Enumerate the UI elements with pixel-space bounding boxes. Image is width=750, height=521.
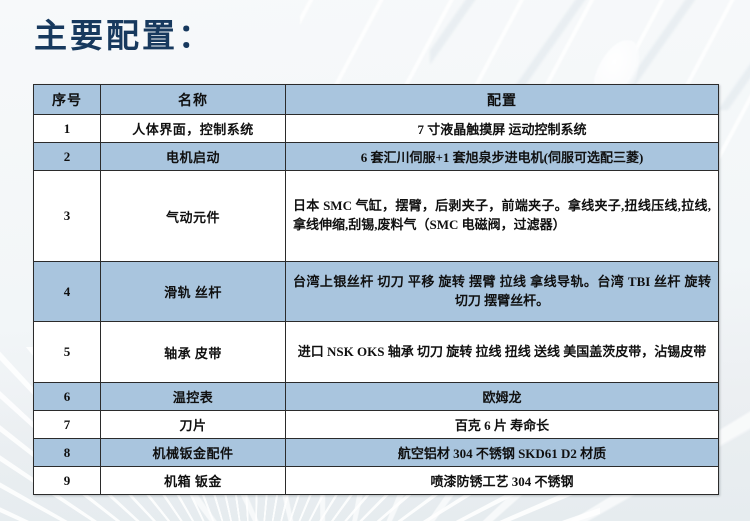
cell-index: 4 (34, 262, 101, 322)
cell-index: 5 (34, 322, 101, 383)
cell-index: 2 (34, 143, 101, 171)
table-row: 4 滑轨 丝杆 台湾上银丝杆 切刀 平移 旋转 摆臂 拉线 拿线导轨。台湾 TB… (34, 262, 719, 322)
column-header-name: 名称 (101, 85, 286, 115)
table-row: 1 人体界面，控制系统 7 寸液晶触摸屏 运动控制系统 (34, 115, 719, 143)
table-row: 6 温控表 欧姆龙 (34, 383, 719, 411)
cell-index: 8 (34, 439, 101, 467)
cell-spec: 台湾上银丝杆 切刀 平移 旋转 摆臂 拉线 拿线导轨。台湾 TBI 丝杆 旋转 … (286, 262, 719, 322)
cell-name: 机箱 钣金 (101, 467, 286, 495)
cell-index: 6 (34, 383, 101, 411)
spec-table: 序号 名称 配置 1 人体界面，控制系统 7 寸液晶触摸屏 运动控制系统 2 电… (33, 84, 719, 495)
cell-name: 机械钣金配件 (101, 439, 286, 467)
table-row: 9 机箱 钣金 喷漆防锈工艺 304 不锈钢 (34, 467, 719, 495)
cell-spec: 喷漆防锈工艺 304 不锈钢 (286, 467, 719, 495)
table-row: 7 刀片 百克 6 片 寿命长 (34, 411, 719, 439)
cell-name: 气动元件 (101, 171, 286, 262)
cell-spec: 6 套汇川伺服+1 套旭泉步进电机(伺服可选配三菱) (286, 143, 719, 171)
page-title: 主要配置： (34, 19, 214, 52)
table-row: 8 机械钣金配件 航空铝材 304 不锈钢 SKD61 D2 材质 (34, 439, 719, 467)
spec-table-container: 序号 名称 配置 1 人体界面，控制系统 7 寸液晶触摸屏 运动控制系统 2 电… (33, 84, 718, 495)
cell-spec: 进口 NSK OKS 轴承 切刀 旋转 拉线 扭线 送线 美国盖茨皮带，沾锡皮带 (286, 322, 719, 383)
cell-spec: 百克 6 片 寿命长 (286, 411, 719, 439)
cell-index: 1 (34, 115, 101, 143)
cell-name: 温控表 (101, 383, 286, 411)
cell-spec: 欧姆龙 (286, 383, 719, 411)
cell-index: 7 (34, 411, 101, 439)
table-row: 3 气动元件 日本 SMC 气缸，摆臂，后剥夹子，前端夹子。拿线夹子,扭线压线,… (34, 171, 719, 262)
cell-spec: 航空铝材 304 不锈钢 SKD61 D2 材质 (286, 439, 719, 467)
cell-name: 电机启动 (101, 143, 286, 171)
cell-spec: 7 寸液晶触摸屏 运动控制系统 (286, 115, 719, 143)
table-header-row: 序号 名称 配置 (34, 85, 719, 115)
cell-spec: 日本 SMC 气缸，摆臂，后剥夹子，前端夹子。拿线夹子,扭线压线,拉线,拿线伸缩… (286, 171, 719, 262)
cell-index: 9 (34, 467, 101, 495)
cell-name: 人体界面，控制系统 (101, 115, 286, 143)
cell-index: 3 (34, 171, 101, 262)
table-row: 5 轴承 皮带 进口 NSK OKS 轴承 切刀 旋转 拉线 扭线 送线 美国盖… (34, 322, 719, 383)
cell-name: 滑轨 丝杆 (101, 262, 286, 322)
column-header-spec: 配置 (286, 85, 719, 115)
cell-name: 轴承 皮带 (101, 322, 286, 383)
column-header-index: 序号 (34, 85, 101, 115)
cell-name: 刀片 (101, 411, 286, 439)
table-row: 2 电机启动 6 套汇川伺服+1 套旭泉步进电机(伺服可选配三菱) (34, 143, 719, 171)
